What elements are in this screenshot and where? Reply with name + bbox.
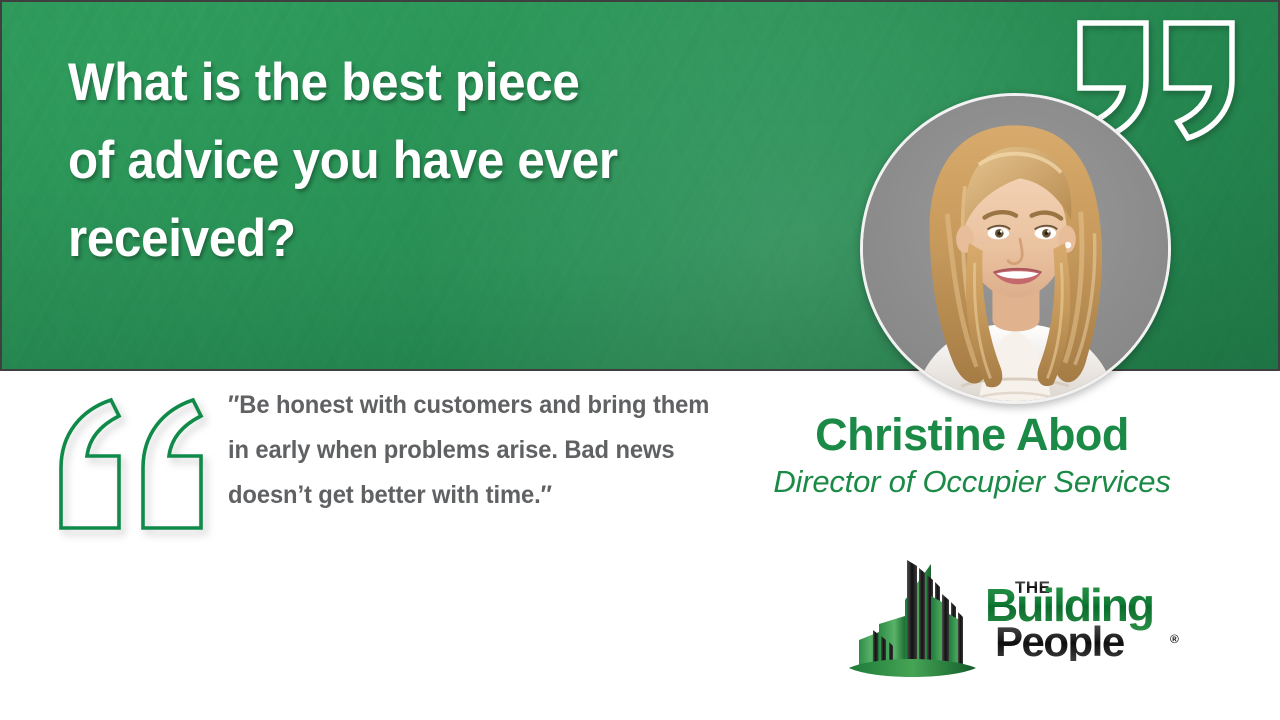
logo-people-text: People: [995, 618, 1124, 661]
person-title: Director of Occupier Services: [700, 463, 1244, 501]
logo-wordmark: THE Building People ®: [985, 573, 1190, 661]
opening-quotation-mark-icon: [55, 394, 207, 534]
company-logo[interactable]: THE Building People ®: [845, 550, 1190, 680]
person-name: Christine Abod: [700, 409, 1244, 461]
building-skyline-icon: [845, 550, 980, 680]
avatar: [860, 93, 1171, 404]
quote-text: ″Be honest with customers and bring them…: [228, 383, 722, 518]
registered-trademark-icon: ®: [1170, 632, 1179, 646]
page-title: What is the best piece of advice you hav…: [68, 44, 719, 278]
testimonial-card: What is the best piece of advice you hav…: [0, 0, 1280, 720]
attribution: Christine Abod Director of Occupier Serv…: [700, 409, 1244, 501]
avatar-portrait: [863, 96, 1168, 401]
